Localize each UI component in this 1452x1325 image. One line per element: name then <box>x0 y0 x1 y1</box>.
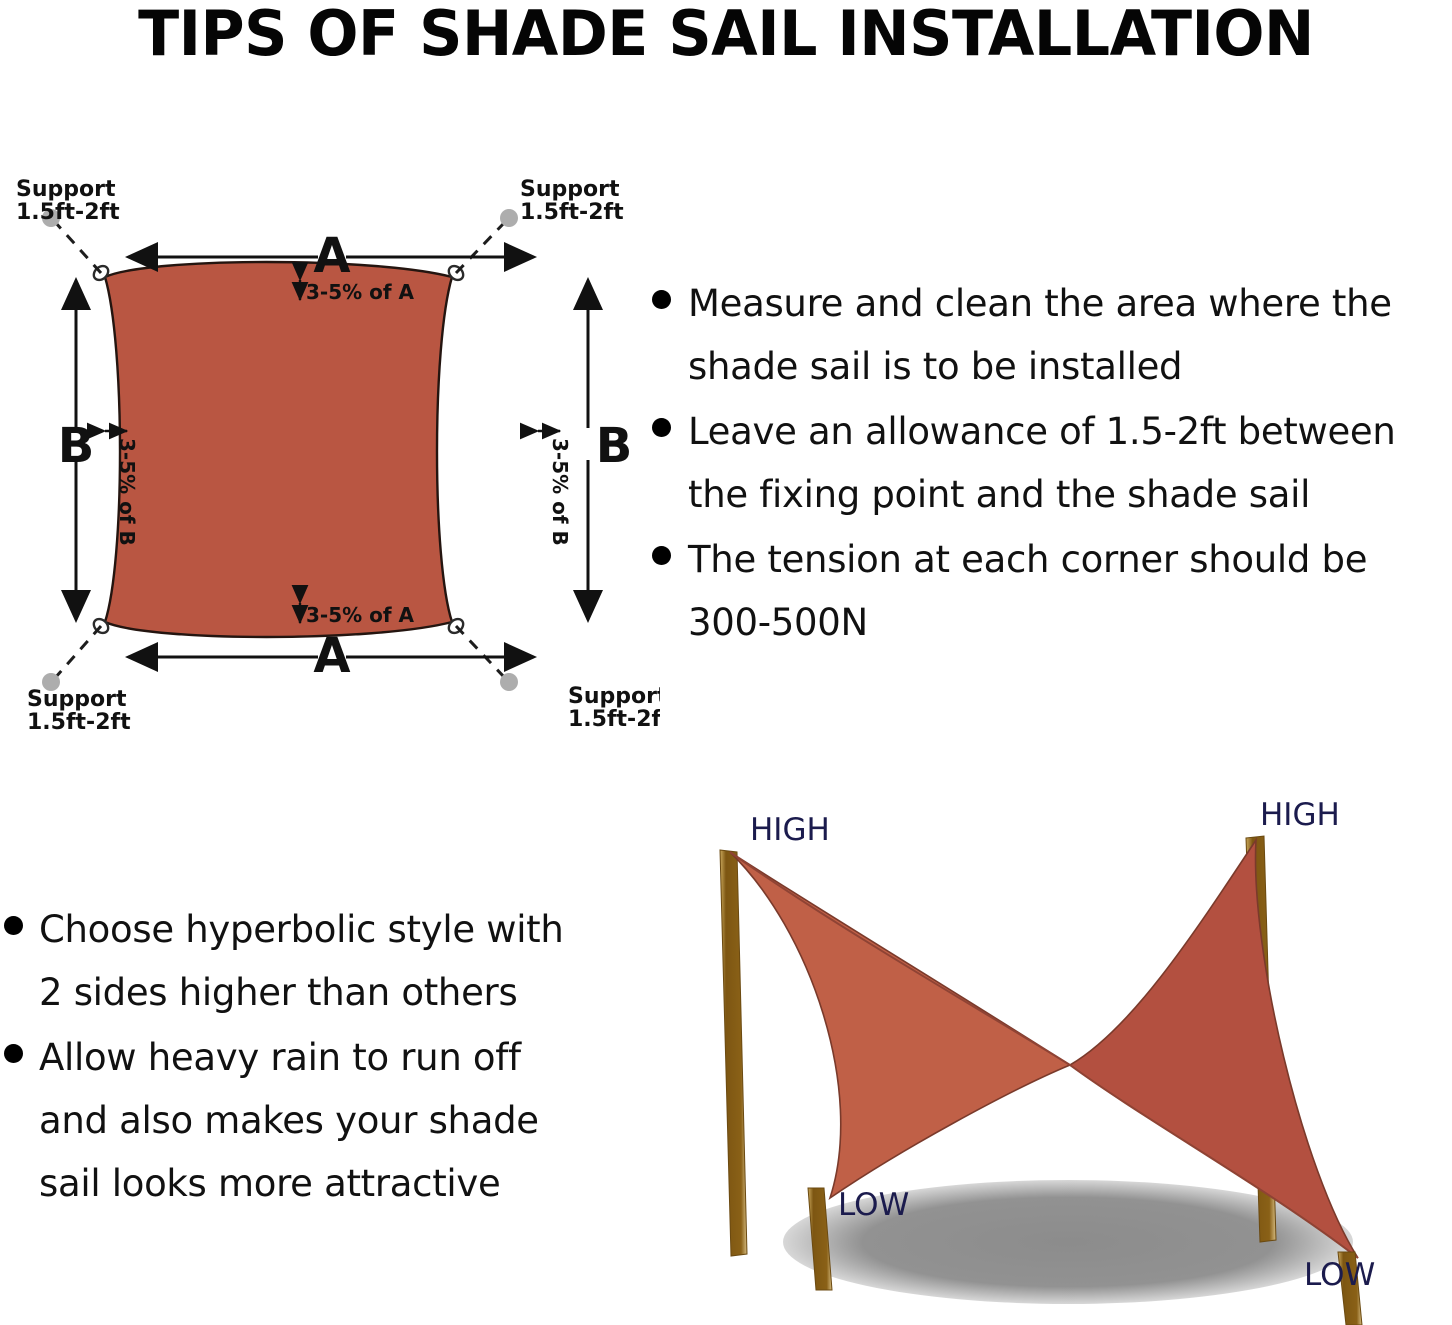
installation-tips-list: Measure and clean the area where the sha… <box>652 272 1452 656</box>
corner-label-low-left: LOW <box>838 1187 909 1223</box>
bullet-dot-icon <box>652 546 671 565</box>
support-label-value: 1.5ft-2ft <box>27 710 131 735</box>
support-label-text: Support <box>16 177 116 202</box>
corner-label-high-right: HIGH <box>1260 797 1340 833</box>
dimension-a-label: A <box>313 628 350 684</box>
support-label-value: 1.5ft-2ft <box>16 200 120 225</box>
dimension-b-label: B <box>58 418 95 474</box>
bullet-dot-icon <box>4 916 23 935</box>
pole-low-left <box>808 1188 832 1290</box>
sail-fabric-shape <box>105 262 452 637</box>
list-item: Measure and clean the area where the sha… <box>652 272 1452 398</box>
corner-label-low-right: LOW <box>1304 1257 1375 1293</box>
dimension-a-label: A <box>313 228 350 284</box>
bullet-dot-icon <box>652 290 671 309</box>
bullet-dot-icon <box>4 1044 23 1063</box>
sag-indicator-top: 3-5% of A <box>300 280 415 304</box>
list-item-text: Leave an allowance of 1.5-2ft between th… <box>688 400 1396 526</box>
sag-indicator-right: 3-5% of B <box>538 431 572 546</box>
sag-label-bottom: 3-5% of A <box>306 603 415 627</box>
rectangular-sail-diagram: Support 1.5ft-2ft Support 1.5ft-2ft Supp… <box>0 160 660 740</box>
hyperbolic-sail-diagram: HIGH HIGH LOW LOW <box>690 790 1452 1325</box>
support-dot-bottom-right <box>500 673 518 691</box>
list-item: Choose hyperbolic style with 2 sides hig… <box>4 898 634 1024</box>
sag-label-top: 3-5% of A <box>306 280 415 304</box>
page-title: TIPS OF SHADE SAIL INSTALLATION <box>22 2 1430 66</box>
support-label-top-right: Support 1.5ft-2ft <box>520 177 624 225</box>
sag-label-right: 3-5% of B <box>548 438 572 546</box>
dimension-a-bottom: A <box>128 628 534 684</box>
bullet-dot-icon <box>652 418 671 437</box>
support-label-text: Support <box>520 177 620 202</box>
support-label-bottom-left: Support 1.5ft-2ft <box>27 687 131 735</box>
pole-high-left <box>720 850 747 1256</box>
dimension-b-right: B <box>588 280 632 620</box>
dimension-b-left: B <box>58 280 95 620</box>
support-label-text: Support <box>27 687 127 712</box>
sag-label-left: 3-5% of B <box>115 438 139 546</box>
list-item: The tension at each corner should be 300… <box>652 528 1452 654</box>
hyperbolic-style-list: Choose hyperbolic style with 2 sides hig… <box>4 898 634 1217</box>
support-label-value: 1.5ft-2ft <box>568 707 660 732</box>
list-item-text: Measure and clean the area where the sha… <box>688 272 1392 398</box>
list-item-text: Allow heavy rain to run off and also mak… <box>39 1026 539 1215</box>
support-label-value: 1.5ft-2ft <box>520 200 624 225</box>
list-item-text: Choose hyperbolic style with 2 sides hig… <box>39 898 564 1024</box>
list-item: Allow heavy rain to run off and also mak… <box>4 1026 634 1215</box>
list-item-text: The tension at each corner should be 300… <box>688 528 1367 654</box>
support-dot-top-right <box>500 209 518 227</box>
list-item: Leave an allowance of 1.5-2ft between th… <box>652 400 1452 526</box>
support-label-bottom-right: Support 1.5ft-2ft <box>568 684 660 732</box>
support-label-top-left: Support 1.5ft-2ft <box>16 177 120 225</box>
sag-indicator-bottom: 3-5% of A <box>300 603 415 627</box>
support-label-text: Support <box>568 684 660 709</box>
sag-indicator-left: 3-5% of B <box>105 431 139 546</box>
corner-label-high-left: HIGH <box>750 812 830 848</box>
dimension-b-label: B <box>596 418 633 474</box>
